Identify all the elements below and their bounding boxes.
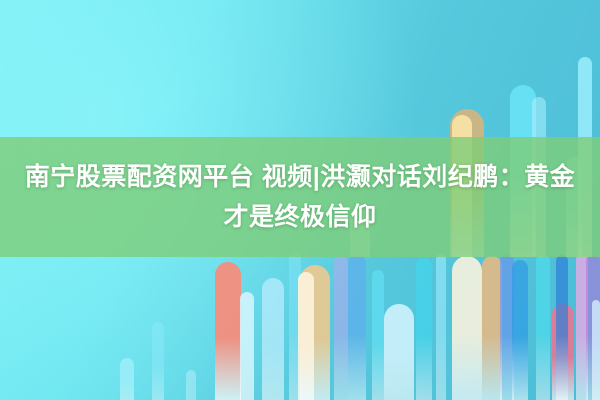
bar-01 bbox=[120, 358, 134, 400]
bar-10 bbox=[334, 256, 348, 400]
bar-17 bbox=[482, 256, 502, 400]
bar-05 bbox=[240, 292, 254, 400]
headline-text-block: 南宁股票配资网平台 视频|洪灏对话刘纪鹏：黄金 才是终极信仰 bbox=[0, 137, 600, 257]
bar-13 bbox=[384, 304, 414, 400]
bar-12 bbox=[372, 270, 384, 400]
bar-04 bbox=[215, 262, 241, 400]
headline-line-2: 才是终极信仰 bbox=[223, 198, 376, 236]
bar-09 bbox=[298, 272, 314, 400]
bar-11 bbox=[348, 254, 366, 400]
bar-02 bbox=[152, 322, 164, 400]
bar-14 bbox=[416, 258, 432, 400]
bar-22 bbox=[556, 255, 568, 400]
bar-03 bbox=[186, 370, 196, 400]
bar-15 bbox=[436, 254, 446, 400]
article-cover-image: 南宁股票配资网平台 视频|洪灏对话刘纪鹏：黄金 才是终极信仰 bbox=[0, 0, 600, 400]
bar-25 bbox=[592, 300, 600, 400]
bar-06 bbox=[262, 278, 284, 400]
bar-16 bbox=[452, 256, 482, 400]
bar-19 bbox=[512, 260, 528, 400]
bar-20 bbox=[536, 254, 550, 400]
headline-line-1: 南宁股票配资网平台 视频|洪灏对话刘纪鹏：黄金 bbox=[25, 158, 575, 196]
